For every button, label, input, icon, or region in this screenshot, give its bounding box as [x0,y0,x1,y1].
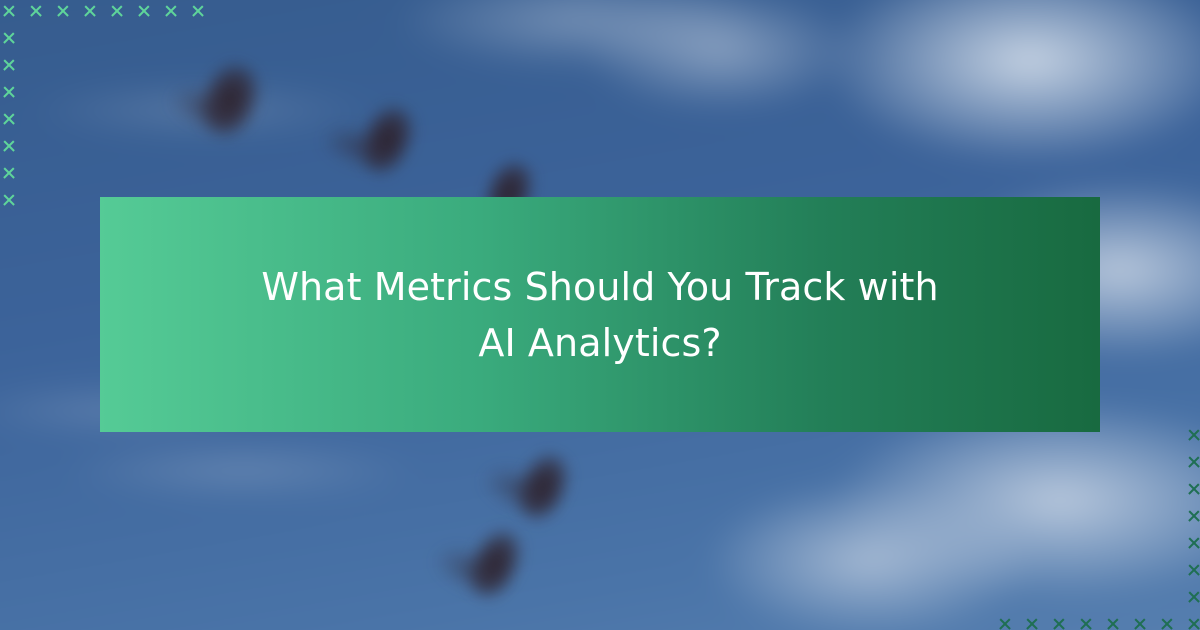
decorative-x-pattern-bottom-right [998,428,1200,630]
x-cross-icon [29,4,43,18]
page-title: What Metrics Should You Track with AI An… [260,259,940,371]
x-cross-icon [1187,536,1200,550]
x-cross-icon [1187,428,1200,442]
x-cross-icon [110,4,124,18]
x-cross-icon [2,85,16,99]
x-cross-icon [2,112,16,126]
x-cross-icon [2,31,16,45]
x-cross-icon [2,139,16,153]
x-cross-icon [2,4,16,18]
x-cross-icon [1187,563,1200,577]
title-banner: What Metrics Should You Track with AI An… [100,197,1100,432]
x-cross-icon [1160,617,1174,630]
x-cross-icon [2,193,16,207]
x-cross-icon [191,4,205,18]
x-cross-icon [1025,617,1039,630]
x-cross-icon [1187,482,1200,496]
x-cross-icon [998,617,1012,630]
x-cross-icon [137,4,151,18]
x-cross-icon [1187,455,1200,469]
social-share-card: What Metrics Should You Track with AI An… [0,0,1200,630]
x-cross-icon [1133,617,1147,630]
x-cross-icon [1187,590,1200,604]
x-cross-icon [2,166,16,180]
x-cross-icon [1106,617,1120,630]
x-cross-icon [56,4,70,18]
x-cross-icon [1052,617,1066,630]
decorative-x-pattern-top-left [2,4,218,220]
x-cross-icon [1187,509,1200,523]
x-cross-icon [164,4,178,18]
x-cross-icon [2,58,16,72]
x-cross-icon [83,4,97,18]
x-cross-icon [1079,617,1093,630]
x-cross-icon [1187,617,1200,630]
